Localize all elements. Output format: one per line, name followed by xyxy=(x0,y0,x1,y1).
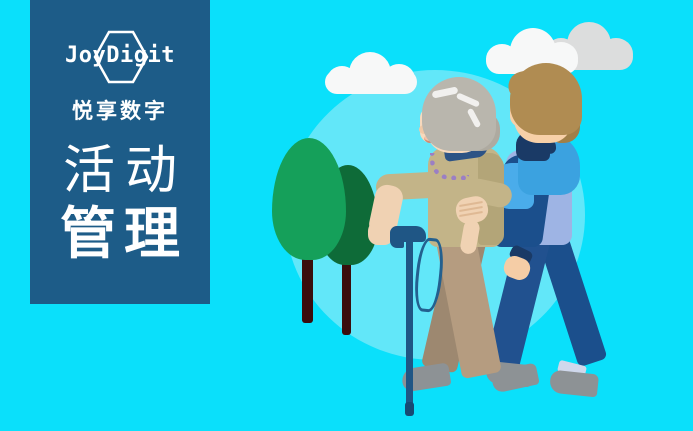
brand-panel: JoyDigit 悦享数字 活动 管理 xyxy=(30,0,210,304)
logo-wordmark: JoyDigit xyxy=(53,42,187,70)
logo-lockup: JoyDigit xyxy=(53,30,187,84)
cane-handle-tip xyxy=(390,226,404,248)
poster-canvas: JoyDigit 悦享数字 活动 管理 xyxy=(0,0,693,431)
page-title-line2: 管理 xyxy=(30,202,210,268)
woman-hair xyxy=(422,77,496,151)
page-title: 活动 管理 xyxy=(30,140,210,268)
brand-name-cn: 悦享数字 xyxy=(30,95,210,125)
logo-block: JoyDigit 悦享数字 xyxy=(30,30,210,125)
cane-ferrule xyxy=(405,402,414,416)
cane-shaft xyxy=(406,236,413,408)
page-title-line1: 活动 xyxy=(30,140,210,202)
